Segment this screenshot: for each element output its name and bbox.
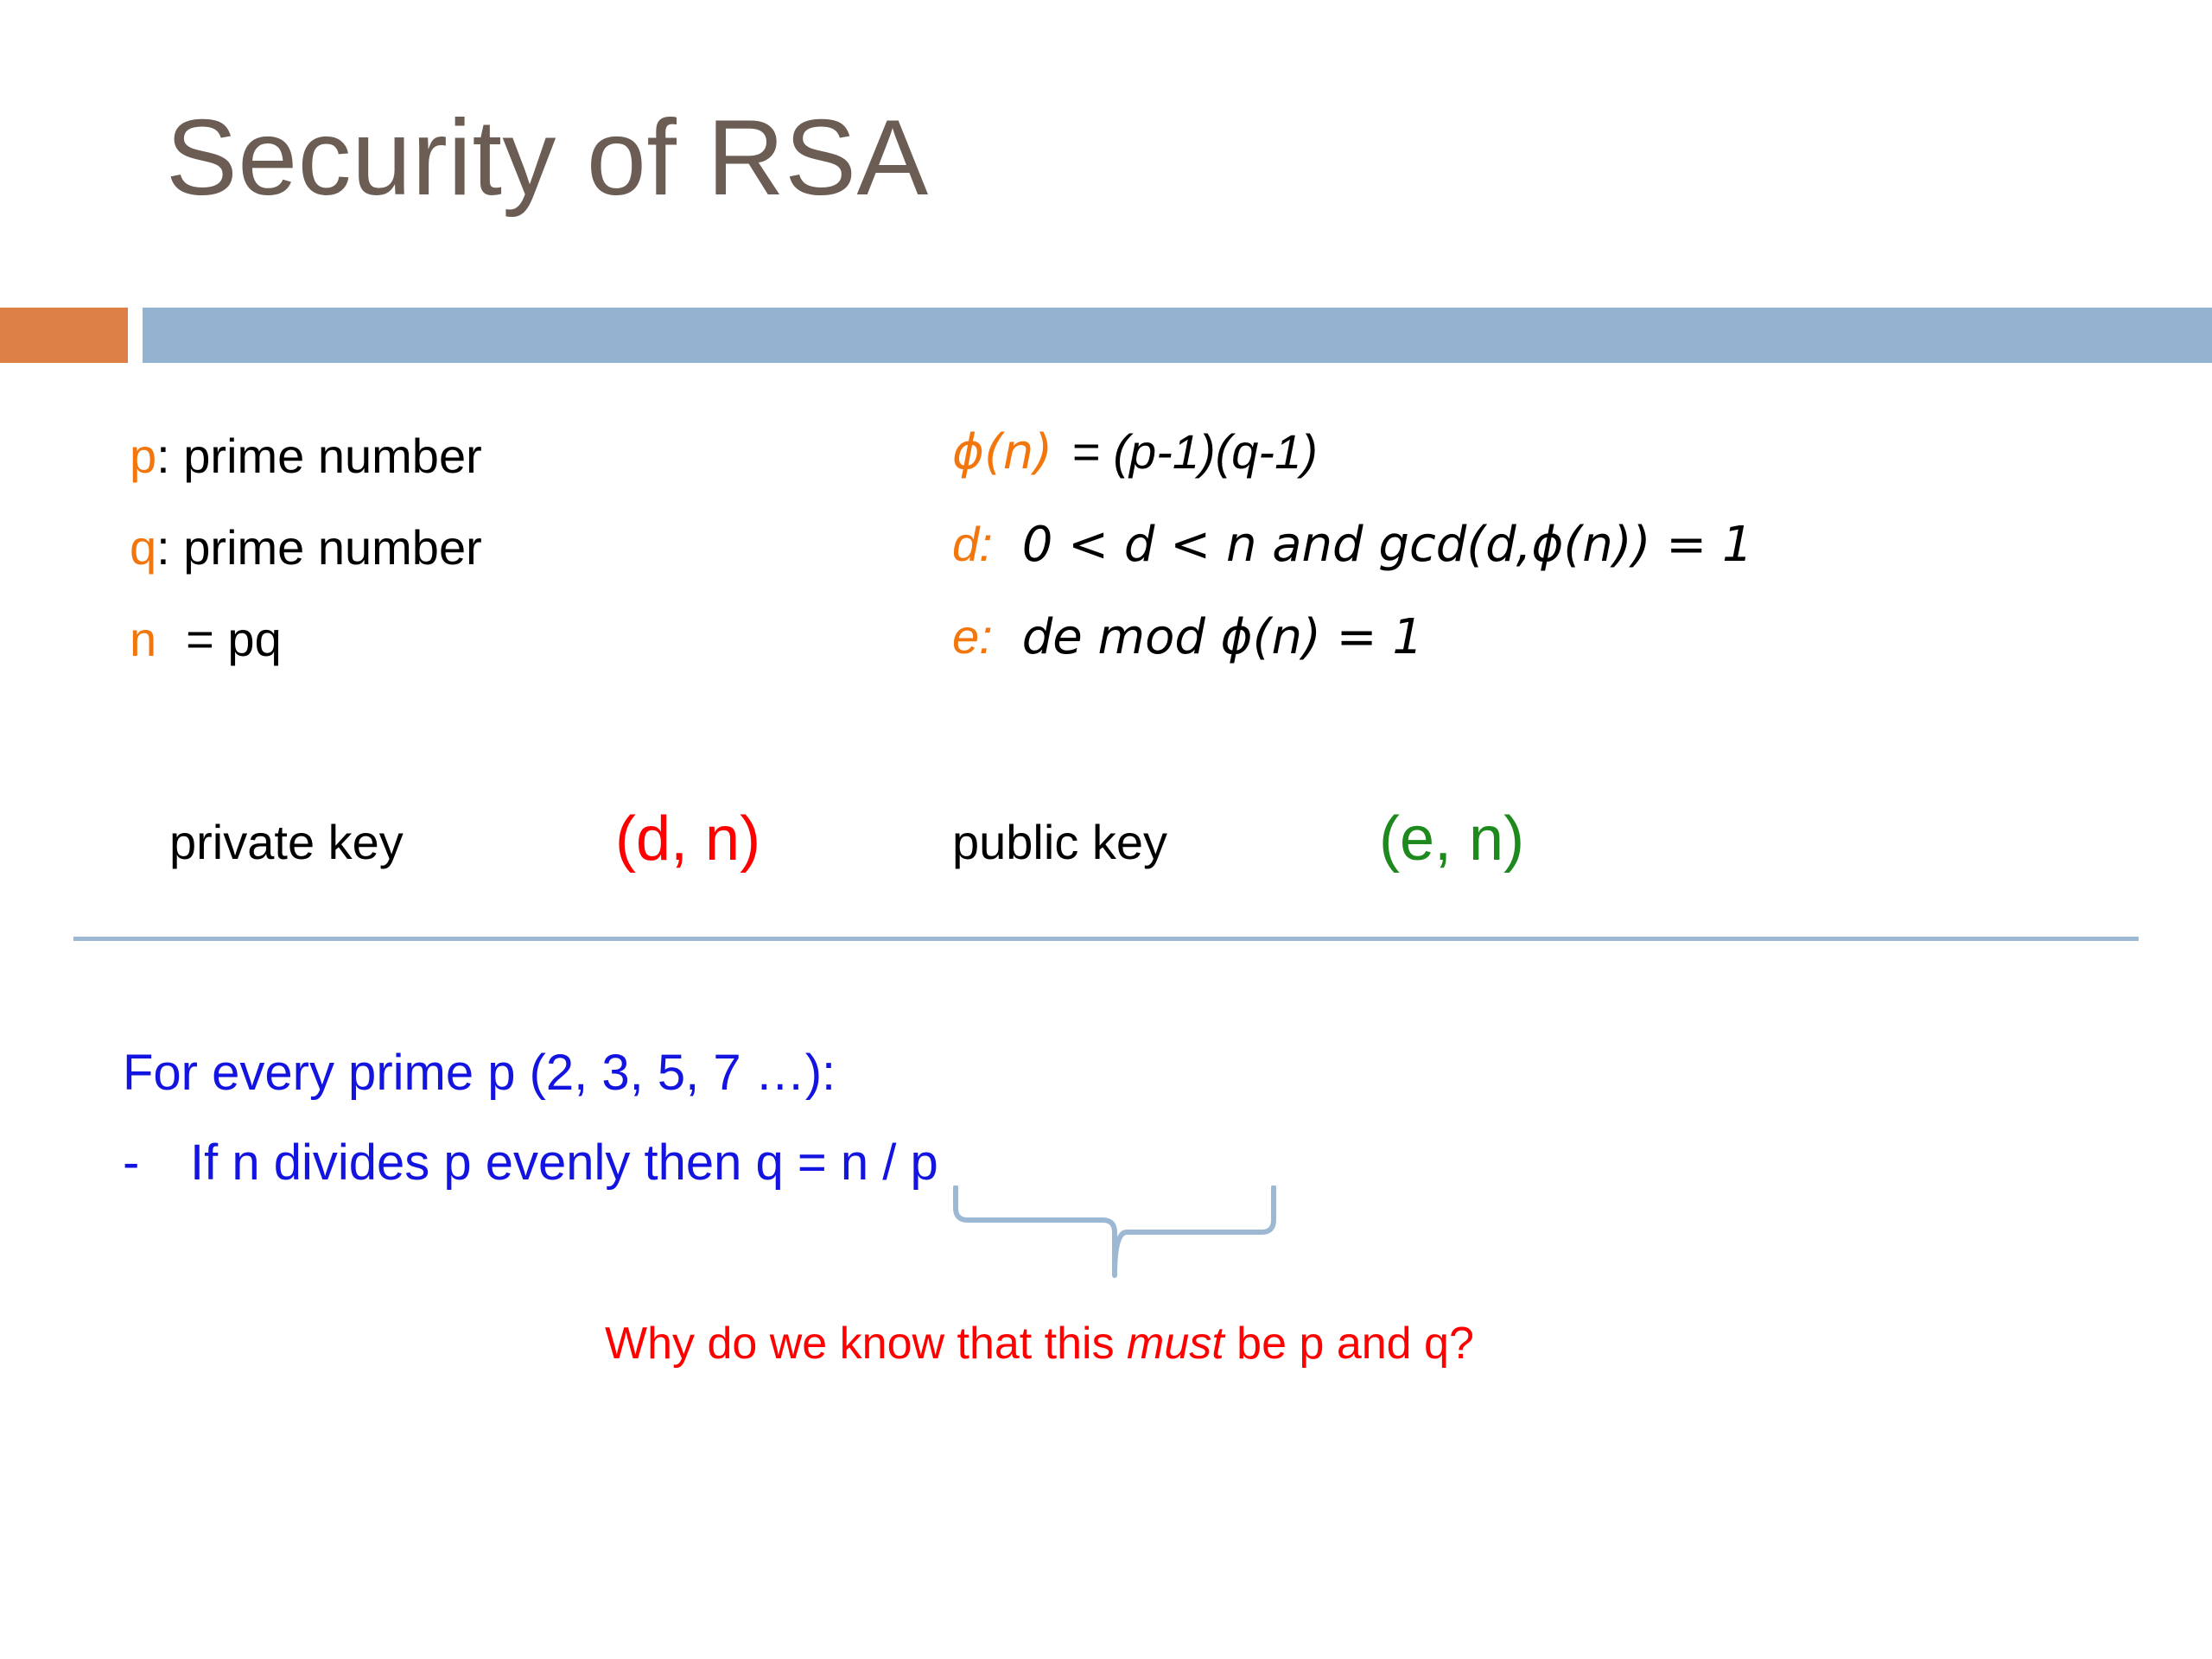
definitions-left-column: p: prime number q: prime number n= pq <box>130 410 482 685</box>
definition-text-q: prime number <box>183 520 481 575</box>
variable-p: p <box>130 429 156 483</box>
bullet-dash: - <box>123 1118 190 1208</box>
caption-text-after: be p and q? <box>1224 1319 1474 1369</box>
section-divider <box>73 937 2139 941</box>
accent-bar-orange <box>0 308 128 363</box>
definition-text-n: = pq <box>186 612 282 666</box>
curly-brace-icon <box>950 1185 1279 1281</box>
definition-row-e: e:de mod ϕ(n) = 1 <box>952 591 1753 683</box>
definition-row-q: q: prime number <box>130 502 482 594</box>
definition-text-phi: = (p-1)(q-1) <box>1071 424 1318 479</box>
variable-n: n <box>130 612 156 666</box>
definitions-right-column: ϕ(n)= (p-1)(q-1) d:0 < d < n and gcd(d,ϕ… <box>952 406 1753 683</box>
slide-canvas: Security of RSA p: prime number q: prime… <box>0 0 2212 1659</box>
definition-text-e: de mod ϕ(n) = 1 <box>1022 609 1423 665</box>
definition-text-p: prime number <box>183 429 481 483</box>
definition-row-p: p: prime number <box>130 410 482 502</box>
separator-q: : <box>156 520 183 575</box>
key-pair-row: private key (d, n) public key (e, n) <box>169 804 1984 890</box>
definition-text-d: 0 < d < n and gcd(d,ϕ(n)) = 1 <box>1022 517 1753 573</box>
separator-d: : <box>979 517 993 571</box>
public-key-label: public key <box>952 814 1167 870</box>
separator-e: : <box>979 609 993 664</box>
statement-block: For every prime p (2, 3, 5, 7 …): -If n … <box>123 1028 938 1208</box>
statement-line-2-text: If n divides p evenly then q = n / p <box>190 1135 938 1191</box>
question-caption: Why do we know that this must be p and q… <box>605 1318 1474 1370</box>
variable-phi-n: ϕ(n) <box>952 424 1052 480</box>
statement-line-2: -If n divides p evenly then q = n / p <box>123 1118 938 1208</box>
variable-e: e <box>952 609 979 664</box>
statement-line-1: For every prime p (2, 3, 5, 7 …): <box>123 1028 938 1118</box>
accent-bar-blue <box>143 308 2212 363</box>
definition-row-d: d:0 < d < n and gcd(d,ϕ(n)) = 1 <box>952 499 1753 591</box>
caption-text-before: Why do we know that this <box>605 1319 1127 1369</box>
definition-row-n: n= pq <box>130 594 482 685</box>
variable-d: d <box>952 517 979 571</box>
private-key-label: private key <box>169 814 404 870</box>
page-title: Security of RSA <box>166 102 929 214</box>
public-key-value: (e, n) <box>1379 804 1524 874</box>
variable-q: q <box>130 520 156 575</box>
private-key-value: (d, n) <box>615 804 760 874</box>
curly-brace-annotation <box>950 1185 1279 1281</box>
separator-p: : <box>156 429 183 483</box>
definition-row-phi: ϕ(n)= (p-1)(q-1) <box>952 406 1753 499</box>
caption-emphasis: must <box>1127 1319 1224 1369</box>
